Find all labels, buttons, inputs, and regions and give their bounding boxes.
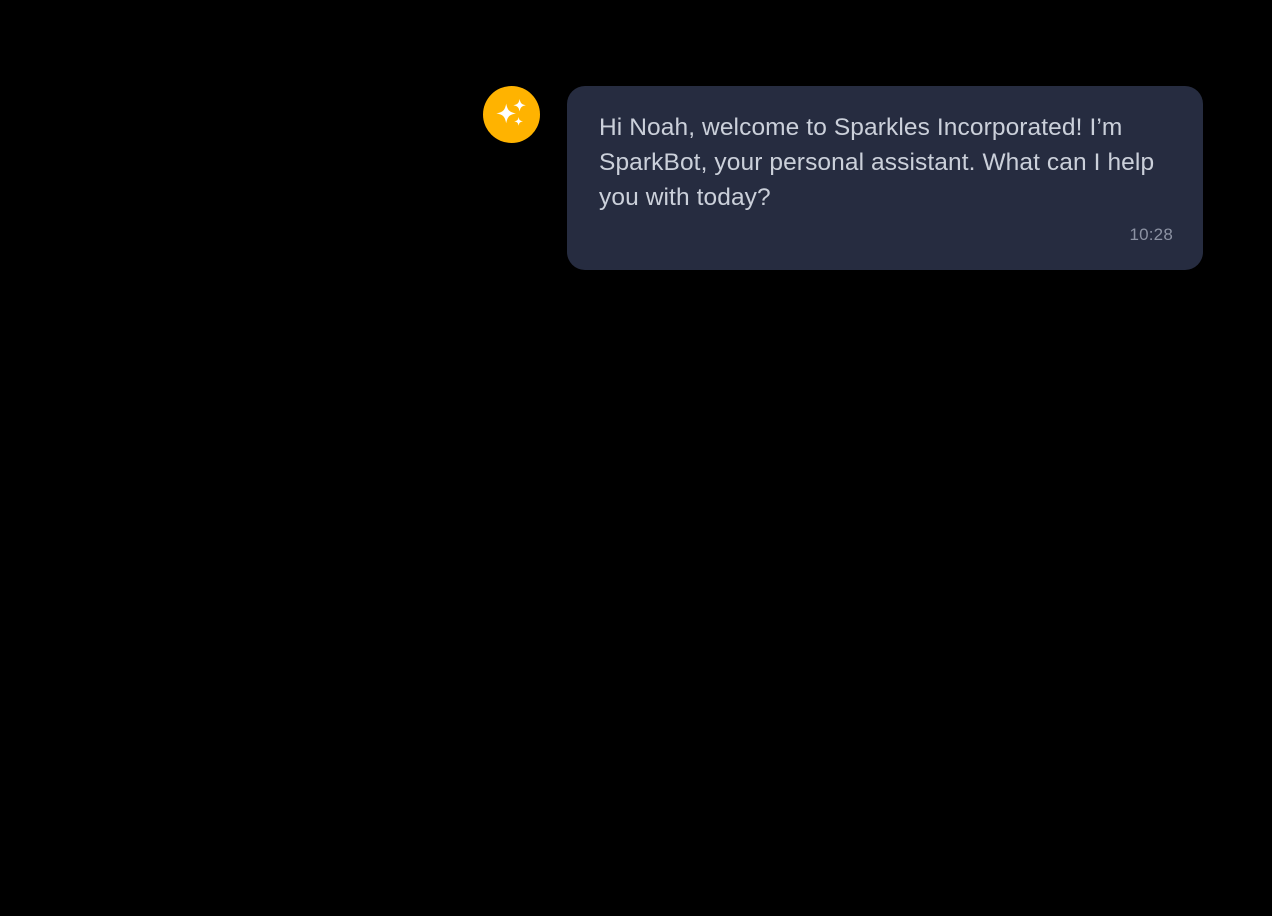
chat-message-bot: Hi Noah, welcome to Sparkles Incorporate…	[483, 86, 1203, 270]
message-bubble: Hi Noah, welcome to Sparkles Incorporate…	[567, 86, 1203, 270]
message-text: Hi Noah, welcome to Sparkles Incorporate…	[599, 110, 1173, 215]
avatar	[483, 86, 540, 143]
sparkles-icon	[493, 96, 530, 133]
chat-conversation-panel: Hi Noah, welcome to Sparkles Incorporate…	[0, 0, 1272, 916]
message-timestamp: 10:28	[599, 224, 1173, 245]
